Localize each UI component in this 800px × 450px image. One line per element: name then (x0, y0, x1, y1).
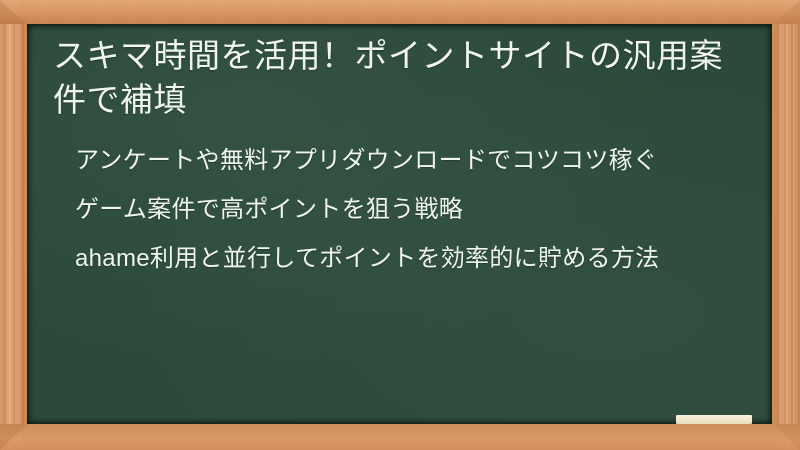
chalkboard-surface: スキマ時間を活用！ポイントサイトの汎用案件で補填 アンケートや無料アプリダウンロ… (27, 24, 772, 424)
slide-title: スキマ時間を活用！ポイントサイトの汎用案件で補填 (53, 34, 743, 122)
chalk-stick-icon (676, 415, 752, 424)
list-item: アンケートや無料アプリダウンロードでコツコツ稼ぐ (75, 144, 735, 179)
chalkboard-content: スキマ時間を活用！ポイントサイトの汎用案件で補填 アンケートや無料アプリダウンロ… (27, 24, 772, 424)
frame-right-rail (772, 0, 800, 450)
frame-top-rail (0, 0, 800, 24)
list-item: ゲーム案件で高ポイントを狙う戦略 (75, 193, 735, 228)
list-item: ahame利用と並行してポイントを効率的に貯める方法 (75, 242, 735, 277)
frame-corner-bottom-left (0, 424, 27, 450)
frame-left-rail (0, 0, 27, 450)
chalkboard-slide: スキマ時間を活用！ポイントサイトの汎用案件で補填 アンケートや無料アプリダウンロ… (0, 0, 800, 450)
frame-corner-top-right (773, 0, 800, 24)
frame-corner-bottom-right (773, 424, 800, 450)
frame-bottom-rail (0, 424, 800, 450)
frame-corner-top-left (0, 0, 27, 24)
slide-bullet-list: アンケートや無料アプリダウンロードでコツコツ稼ぐ ゲーム案件で高ポイントを狙う戦… (49, 144, 750, 276)
